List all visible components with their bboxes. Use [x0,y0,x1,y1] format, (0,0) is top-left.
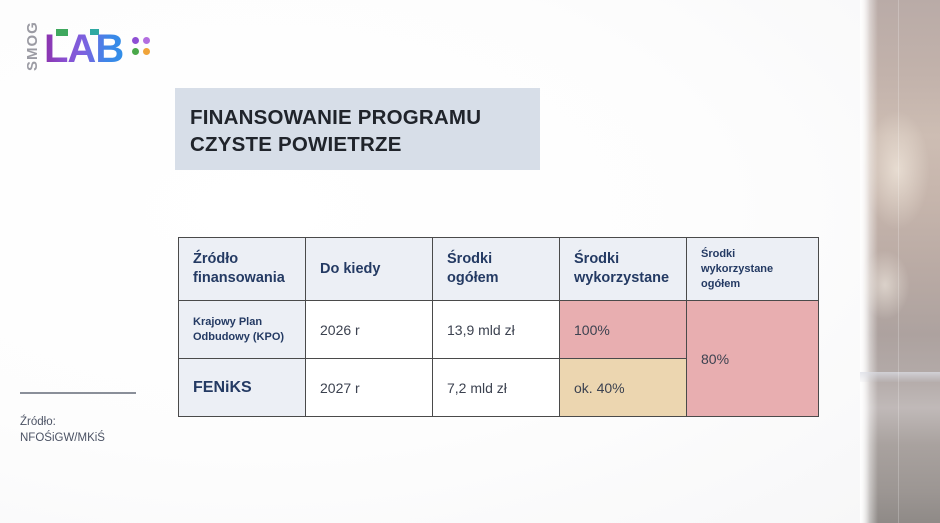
logo-dot-1 [132,37,139,44]
cell-deadline-feniks-value: 2027 r [306,372,432,404]
logo-dots-icon [132,37,158,63]
column-header-funds-used-label: Środki wykorzystane [560,242,686,296]
column-header-source: Źródło finansowania [179,238,306,301]
source-note: Źródło: NFOŚiGW/MKiŚ [20,414,190,446]
photo-strip-seam [898,0,899,523]
logo-dot-2 [143,37,150,44]
cell-total-used-merged: 80% [687,301,819,417]
cell-funds-used-feniks-value: ok. 40% [560,372,686,404]
cell-total-funds-feniks-value: 7,2 mld zł [433,372,559,404]
cell-source-feniks: FENiKS [179,359,306,417]
cell-total-used-value: 80% [687,343,818,375]
page-title: FINANSOWANIE PROGRAMU CZYSTE POWIETRZE [190,104,530,158]
column-header-total-used: Środki wykorzystane ogółem [687,238,819,301]
cell-source-kpo: Krajowy Plan Odbudowy (KPO) [179,301,306,359]
financing-table-wrap: Źródło finansowania Do kiedy Środki ogół… [178,237,818,415]
column-header-total-used-label: Środki wykorzystane ogółem [687,239,818,300]
logo-dot-3 [132,48,139,55]
column-header-source-label: Źródło finansowania [179,242,305,296]
title-banner: FINANSOWANIE PROGRAMU CZYSTE POWIETRZE [175,88,540,170]
column-header-total-funds: Środki ogółem [433,238,560,301]
smoglab-logo[interactable]: SMOG LAB [20,27,150,75]
cell-total-funds-feniks: 7,2 mld zł [433,359,560,417]
logo-dot-4 [143,48,150,55]
cell-deadline-feniks: 2027 r [306,359,433,417]
photo-strip [860,0,940,523]
photo-strip-highlight-lower [860,250,910,320]
logo-smog-text: SMOG [24,21,41,71]
photo-strip-band [860,372,940,382]
logo-lab-text: LAB [44,27,123,71]
slide-canvas: SMOG LAB FINANSOWANIE PROGRAMU CZYSTE PO… [0,0,940,523]
column-header-funds-used: Środki wykorzystane [560,238,687,301]
cell-source-kpo-label: Krajowy Plan Odbudowy (KPO) [179,307,305,353]
source-divider [20,392,136,394]
cell-total-funds-kpo: 13,9 mld zł [433,301,560,359]
cell-deadline-kpo: 2026 r [306,301,433,359]
table-row: Krajowy Plan Odbudowy (KPO) 2026 r 13,9 … [179,301,819,359]
financing-table: Źródło finansowania Do kiedy Środki ogół… [178,237,819,417]
column-header-deadline-label: Do kiedy [306,252,432,287]
cell-funds-used-kpo-value: 100% [560,314,686,346]
photo-strip-highlight-upper [864,110,930,230]
cell-source-feniks-label: FENiKS [179,370,305,406]
column-header-deadline: Do kiedy [306,238,433,301]
column-header-total-funds-label: Środki ogółem [433,242,559,296]
cell-total-funds-kpo-value: 13,9 mld zł [433,314,559,346]
cell-funds-used-feniks: ok. 40% [560,359,687,417]
cell-deadline-kpo-value: 2026 r [306,314,432,346]
cell-funds-used-kpo: 100% [560,301,687,359]
table-header-row: Źródło finansowania Do kiedy Środki ogół… [179,238,819,301]
